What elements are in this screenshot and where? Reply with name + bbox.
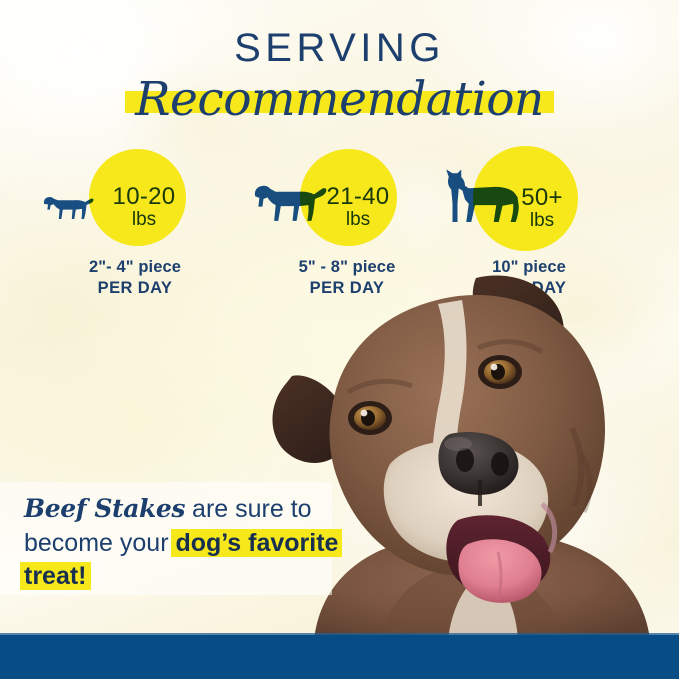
- weight-range: 50+ lbs: [502, 186, 582, 232]
- weight-unit: lbs: [502, 210, 582, 232]
- tagline-highlight-two: treat!: [24, 562, 87, 590]
- weight-number: 10-20: [104, 185, 184, 209]
- serving-recommendation-poster: SERVING Recommendation 10-20 lbs 2"- 4" …: [0, 0, 679, 679]
- serving-size: 2"- 4" piece: [30, 257, 240, 278]
- weight-unit: lbs: [104, 209, 184, 231]
- serving-caption: 2"- 4" piece PER DAY: [30, 257, 240, 298]
- tagline: Beef Stakes are sure to become your dog’…: [24, 492, 354, 594]
- weight-number: 50+: [502, 186, 582, 210]
- tagline-highlight-one: dog’s favorite: [175, 529, 338, 557]
- weight-number: 21-40: [318, 185, 398, 209]
- serving-frequency: PER DAY: [30, 278, 240, 299]
- brand-name: Beef Stakes: [24, 494, 185, 523]
- small-dog-silhouette-icon: [41, 188, 99, 224]
- title-block: SERVING Recommendation: [0, 28, 679, 124]
- bottom-blue-band: [0, 635, 679, 679]
- serving-tier-small: 10-20 lbs 2"- 4" piece PER DAY: [30, 146, 240, 296]
- heading-recommendation-wrap: Recommendation: [125, 75, 554, 124]
- weight-range: 10-20 lbs: [104, 185, 184, 231]
- heading-serving: SERVING: [0, 28, 679, 68]
- weight-unit: lbs: [318, 209, 398, 231]
- heading-recommendation: Recommendation: [135, 75, 544, 124]
- weight-range: 21-40 lbs: [318, 185, 398, 231]
